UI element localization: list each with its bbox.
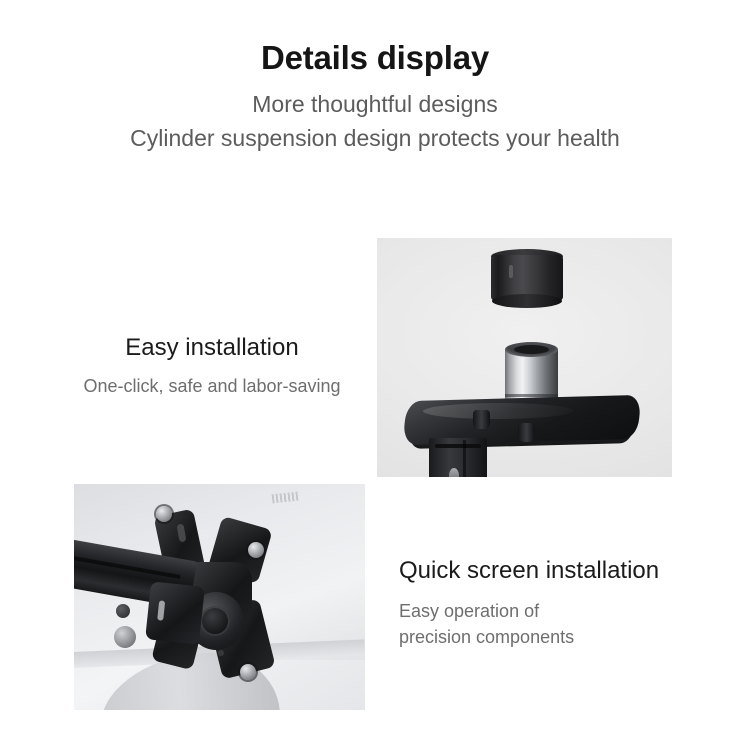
bracket-screw	[240, 664, 256, 680]
product-detail-page: Details display More thoughtful designs …	[0, 0, 750, 750]
feature-description-easy-installation: One-click, safe and labor-saving	[62, 363, 362, 399]
black-cylinder-cap	[491, 249, 563, 304]
feature-description-quick-screen-installation-line-2: precision components	[399, 624, 699, 650]
feature-title-quick-screen-installation: Quick screen installation	[399, 556, 699, 586]
cylinder-photo-artwork	[377, 238, 672, 477]
mount-clamp-post	[429, 438, 487, 477]
arm-adjust-screw	[116, 604, 130, 618]
feature-image-quick-screen-installation	[74, 484, 365, 710]
page-header: Details display More thoughtful designs …	[0, 0, 750, 155]
page-subtitle-line-2: Cylinder suspension design protects your…	[0, 121, 750, 155]
page-subtitle-line-1: More thoughtful designs	[0, 76, 750, 121]
feature-text-easy-installation: Easy installation One-click, safe and la…	[62, 333, 362, 399]
feature-description-quick-screen-installation-line-1: Easy operation of	[399, 586, 699, 624]
bracket-photo-artwork	[74, 484, 365, 710]
bracket-screw	[156, 506, 172, 522]
bracket-screw	[248, 542, 264, 558]
arm-tilt-joint	[145, 581, 205, 644]
feature-text-quick-screen-installation: Quick screen installation Easy operation…	[399, 556, 699, 650]
arm-adjust-knob	[114, 626, 136, 648]
feature-title-easy-installation: Easy installation	[62, 333, 362, 363]
page-title: Details display	[0, 0, 750, 76]
feature-image-easy-installation	[377, 238, 672, 477]
